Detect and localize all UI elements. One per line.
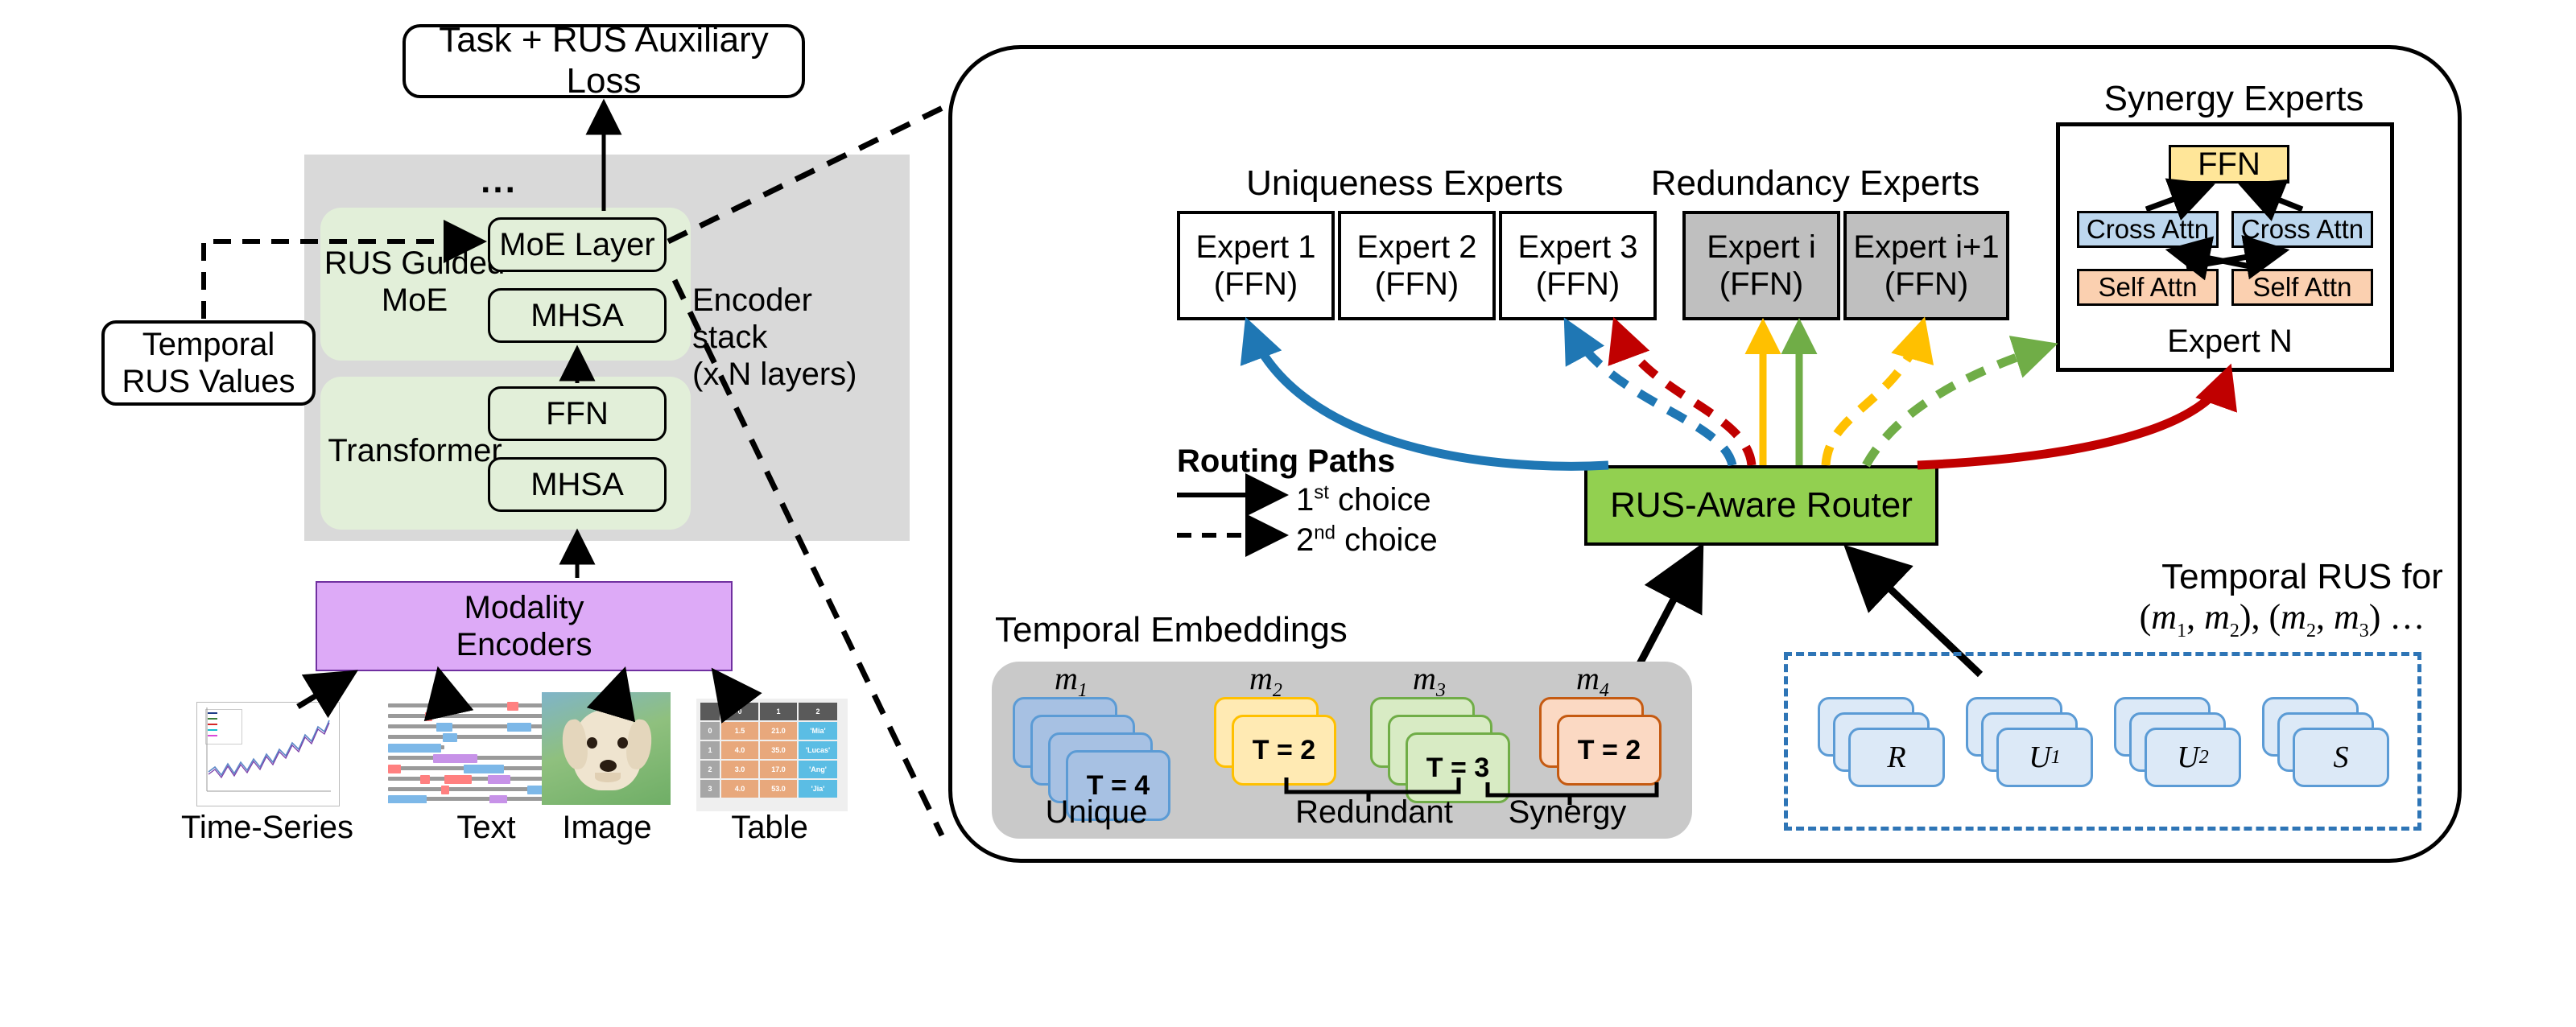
synergy-cross-attn-right-box[interactable]: Cross Attn <box>2231 211 2373 248</box>
redundancy-experts-title: Redundancy Experts <box>1618 165 2013 202</box>
temporal-rus-title-pairs: (m1, m2), (m2, m3) … <box>2093 597 2471 642</box>
temporal-embeddings-title: Temporal Embeddings <box>995 610 1414 651</box>
rus-label-U1: U1 <box>1996 728 2093 787</box>
temporal-rus-values-box: Temporal RUS Values <box>101 320 316 406</box>
temporal-rus-title-line1: Temporal RUS for <box>2125 557 2479 598</box>
embedding-label-m3: m3 <box>1413 660 1446 703</box>
moe-mhsa-box[interactable]: MHSA <box>488 288 667 343</box>
rus-stack-U1: U1 <box>1966 697 2119 798</box>
rus-label-R: R <box>1848 728 1945 787</box>
synergy-self-attn-right-box[interactable]: Self Attn <box>2231 269 2373 306</box>
expert-1-box[interactable]: Expert 1 (FFN) <box>1177 211 1335 320</box>
rus-guided-moe-label: RUS Guided MoE <box>322 237 507 326</box>
synergy-ffn-box[interactable]: FFN <box>2169 145 2289 184</box>
legend-second-choice: 2nd choice <box>1296 522 1554 559</box>
embedding-label-m2: m2 <box>1249 660 1282 703</box>
embedding-group-label-synergy: Synergy <box>1475 794 1660 831</box>
transformer-label: Transformer <box>320 427 510 475</box>
expert-i-box[interactable]: Expert i (FFN) <box>1682 211 1840 320</box>
task-rus-loss-box: Task + RUS Auxiliary Loss <box>402 24 805 98</box>
modality-line2: Encoders <box>456 626 592 663</box>
modality-label-time-series: Time-Series <box>175 810 359 845</box>
thumbnail-table: 0 1 2 0 1.5 21.0 'Mia' 1 4.0 35.0 'Lucas… <box>696 699 848 811</box>
rus-stack-R: R <box>1818 697 1971 798</box>
expert-n-caption: Expert N <box>2117 322 2343 361</box>
encoder-ellipsis: ... <box>451 161 547 201</box>
synergy-self-attn-left-box[interactable]: Self Attn <box>2077 269 2219 306</box>
thumbnail-time-series <box>196 702 340 806</box>
modality-encoders-box: Modality Encoders <box>316 581 733 671</box>
modality-line1: Modality <box>464 589 584 626</box>
embedding-stack-m2: T = 2 <box>1214 697 1367 794</box>
embedding-stack-m4: T = 2 <box>1539 697 1692 794</box>
expert-3-box[interactable]: Expert 3 (FFN) <box>1499 211 1657 320</box>
synergy-experts-title: Synergy Experts <box>2061 80 2407 118</box>
embedding-group-label-redundant: Redundant <box>1274 794 1475 831</box>
transformer-mhsa-box[interactable]: MHSA <box>488 457 667 512</box>
encoder-stack-label: Encoder stack (x N layers) <box>692 282 894 393</box>
routing-paths-title: Routing Paths <box>1177 443 1443 480</box>
rus-label-U2: U2 <box>2145 728 2241 787</box>
rus-stack-U2: U2 <box>2114 697 2267 798</box>
encoder-stack-line2: (x N layers) <box>692 356 894 393</box>
embedding-label-m4: m4 <box>1576 660 1609 703</box>
temporal-rus-line1: Temporal <box>142 326 275 363</box>
moe-layer-box[interactable]: MoE Layer <box>488 217 667 272</box>
rus-aware-router-box[interactable]: RUS-Aware Router <box>1584 465 1938 546</box>
task-rus-loss-label: Task + RUS Auxiliary Loss <box>406 20 802 101</box>
temporal-rus-title: Temporal RUS for <box>2125 557 2479 598</box>
thumbnail-image <box>542 692 671 805</box>
table-thumb-grid: 0 1 2 0 1.5 21.0 'Mia' 1 4.0 35.0 'Lucas… <box>700 702 838 798</box>
transformer-ffn-box[interactable]: FFN <box>488 386 667 441</box>
expert-2-box[interactable]: Expert 2 (FFN) <box>1338 211 1496 320</box>
synergy-cross-attn-left-box[interactable]: Cross Attn <box>2077 211 2219 248</box>
embedding-value-m3: T = 3 <box>1406 732 1510 803</box>
modality-label-table: Table <box>678 810 861 845</box>
temporal-rus-line2: RUS Values <box>122 363 295 400</box>
legend-first-choice: 1st choice <box>1296 481 1554 518</box>
modality-label-image: Image <box>515 810 699 845</box>
rus-moe-line1: RUS Guided <box>324 245 506 282</box>
embedding-value-m2: T = 2 <box>1232 715 1336 786</box>
rus-moe-line2: MoE <box>382 282 448 319</box>
expert-i-plus-1-box[interactable]: Expert i+1 (FFN) <box>1843 211 2009 320</box>
embedding-label-m1: m1 <box>1055 660 1088 703</box>
embedding-value-m4: T = 2 <box>1557 715 1662 786</box>
rus-stack-S: S <box>2262 697 2415 798</box>
rus-label-S: S <box>2293 728 2389 787</box>
uniqueness-experts-title: Uniqueness Experts <box>1216 165 1594 202</box>
encoder-stack-line1: Encoder stack <box>692 282 894 356</box>
embedding-group-label-unique: Unique <box>1016 794 1177 831</box>
